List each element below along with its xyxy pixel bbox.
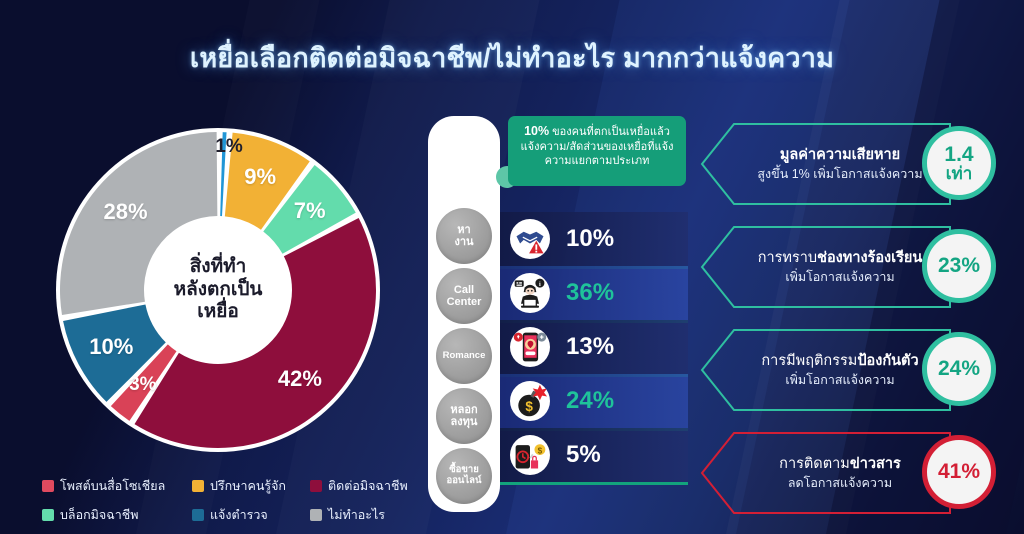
donut-center-line-2: หลังตกเป็น <box>174 279 263 301</box>
legend-label: บล็อกมิจฉาชีพ <box>60 505 139 525</box>
legend-item: ติดต่อมิจฉาชีพ <box>310 476 440 496</box>
stat-row-separator <box>500 482 688 485</box>
legend-label: ไม่ทำอะไร <box>328 505 385 525</box>
donut-slice-label: 10% <box>89 334 133 360</box>
infographic-canvas: เหยื่อเลือกติดต่อมิจฉาชีพ/ไม่ทำอะไร มากก… <box>0 0 1024 534</box>
category-circle[interactable]: CallCenter <box>436 268 492 324</box>
category-circle-label: หลอกลงทุน <box>450 404 477 429</box>
insight-card-line-1: มูลค่าความเสียหาย <box>780 146 900 164</box>
insight-card-badge-value: 24% <box>938 358 980 379</box>
callout-box: 10% ของคนที่ตกเป็นเหยื่อแล้วแจ้งความ/สัด… <box>508 116 686 186</box>
stat-row: 10% <box>500 212 688 266</box>
category-circle[interactable]: หลอกลงทุน <box>436 388 492 444</box>
legend-label: ปรึกษาคนรู้จัก <box>210 476 286 496</box>
category-circle[interactable]: ซื้อขายออนไลน์ <box>436 448 492 504</box>
legend-label: โพสต์บนสื่อโซเชียล <box>60 476 165 496</box>
donut-chart: สิ่งที่ทำ หลังตกเป็น เหยื่อ 1%9%7%42%3%1… <box>48 120 388 460</box>
page-title: เหยื่อเลือกติดต่อมิจฉาชีพ/ไม่ทำอะไร มากก… <box>0 36 1024 79</box>
stat-row: $ 5% <box>500 428 688 482</box>
legend-swatch <box>192 480 204 492</box>
legend-swatch <box>192 509 204 521</box>
category-circle-label: Romance <box>443 351 486 362</box>
legend-swatch <box>310 509 322 521</box>
insight-card[interactable]: การติดตามข่าวสารลดโอกาสแจ้งความ <box>700 431 952 515</box>
category-circle[interactable]: หางาน <box>436 208 492 264</box>
insight-card-badge: 1.4เท่า <box>922 126 996 200</box>
insight-card-badge-value: 23% <box>938 255 980 276</box>
insight-card[interactable]: การมีพฤติกรรมป้องกันตัวเพิ่มโอกาสแจ้งควา… <box>700 328 952 412</box>
insight-card-line-2: เพิ่มโอกาสแจ้งความ <box>785 372 894 388</box>
handshake-warning-icon <box>510 219 550 259</box>
insight-card-badge: 24% <box>922 332 996 406</box>
chart-legend: โพสต์บนสื่อโซเชียลปรึกษาคนรู้จักติดต่อมิ… <box>42 476 442 525</box>
stat-row: 13% <box>500 320 688 374</box>
legend-item: แจ้งตำรวจ <box>192 505 310 525</box>
svg-text:$: $ <box>525 399 533 414</box>
insight-card-badge: 41% <box>922 435 996 509</box>
insight-card-text: การติดตามข่าวสารลดโอกาสแจ้งความ <box>734 431 946 515</box>
legend-item: ปรึกษาคนรู้จัก <box>192 476 310 496</box>
insight-card-line-2: ลดโอกาสแจ้งความ <box>788 475 892 491</box>
legend-swatch <box>310 480 322 492</box>
stat-row-percent: 13% <box>566 333 614 361</box>
category-circle-list: หางานCallCenterRomanceหลอกลงทุนซื้อขายออ… <box>432 208 496 508</box>
insight-card-text: การทราบช่องทางร้องเรียนเพิ่มโอกาสแจ้งควา… <box>734 225 946 309</box>
insight-card-list: มูลค่าความเสียหายสูงขึ้น 1% เพิ่มโอกาสแจ… <box>700 122 1016 518</box>
insight-card-line-1: การติดตามข่าวสาร <box>779 455 901 473</box>
insight-card-badge-unit: เท่า <box>946 165 973 182</box>
stat-row-percent: 24% <box>566 387 614 415</box>
insight-card-text: มูลค่าความเสียหายสูงขึ้น 1% เพิ่มโอกาสแจ… <box>734 122 946 206</box>
stat-row: i 36% <box>500 266 688 320</box>
stat-row-percent: 5% <box>566 441 601 469</box>
legend-swatch <box>42 509 54 521</box>
donut-slice-label: 1% <box>215 136 242 158</box>
category-circle-label: ซื้อขายออนไลน์ <box>447 465 482 486</box>
money-bomb-icon: $ <box>510 381 550 421</box>
donut-slice-label: 3% <box>129 374 156 396</box>
donut-center-label: สิ่งที่ทำ หลังตกเป็น เหยื่อ <box>148 220 288 360</box>
category-circle[interactable]: Romance <box>436 328 492 384</box>
insight-card-line-1: การทราบช่องทางร้องเรียน <box>758 249 923 267</box>
legend-swatch <box>42 480 54 492</box>
insight-card[interactable]: มูลค่าความเสียหายสูงขึ้น 1% เพิ่มโอกาสแจ… <box>700 122 952 206</box>
legend-item: บล็อกมิจฉาชีพ <box>42 505 192 525</box>
svg-text:i: i <box>539 281 541 288</box>
insight-card-line-2: เพิ่มโอกาสแจ้งความ <box>785 269 894 285</box>
insight-card-line-2: สูงขึ้น 1% เพิ่มโอกาสแจ้งความ <box>757 166 922 182</box>
donut-slice-label: 9% <box>244 164 276 190</box>
legend-item: ไม่ทำอะไร <box>310 505 440 525</box>
donut-slice-label: 7% <box>294 198 326 224</box>
legend-label: แจ้งตำรวจ <box>210 505 268 525</box>
donut-center-line-3: เหยื่อ <box>197 301 239 323</box>
hacker-laptop-icon: i <box>510 273 550 313</box>
romance-phone-icon <box>510 327 550 367</box>
stat-row-percent: 36% <box>566 279 614 307</box>
category-circle-label: CallCenter <box>447 284 482 309</box>
insight-card-badge-value: 41% <box>938 461 980 482</box>
legend-label: ติดต่อมิจฉาชีพ <box>328 476 408 496</box>
insight-card-badge-value: 1.4 <box>944 144 973 165</box>
callout-highlight: 10% <box>524 124 549 138</box>
legend-item: โพสต์บนสื่อโซเชียล <box>42 476 192 496</box>
insight-card-badge: 23% <box>922 229 996 303</box>
stat-row-percent: 10% <box>566 225 614 253</box>
donut-slice-label: 28% <box>104 199 148 225</box>
stat-row: $ 24% <box>500 374 688 428</box>
category-circle-label: หางาน <box>454 224 473 249</box>
insight-card-line-1: การมีพฤติกรรมป้องกันตัว <box>761 352 918 370</box>
donut-center-line-1: สิ่งที่ทำ <box>190 256 247 278</box>
insight-card[interactable]: การทราบช่องทางร้องเรียนเพิ่มโอกาสแจ้งควา… <box>700 225 952 309</box>
online-shopping-icon: $ <box>510 435 550 475</box>
svg-text:$: $ <box>538 447 543 456</box>
donut-slice-label: 42% <box>278 366 322 392</box>
insight-card-text: การมีพฤติกรรมป้องกันตัวเพิ่มโอกาสแจ้งควา… <box>734 328 946 412</box>
stat-row-list: 10% i 36% 13% $ <box>500 212 688 482</box>
